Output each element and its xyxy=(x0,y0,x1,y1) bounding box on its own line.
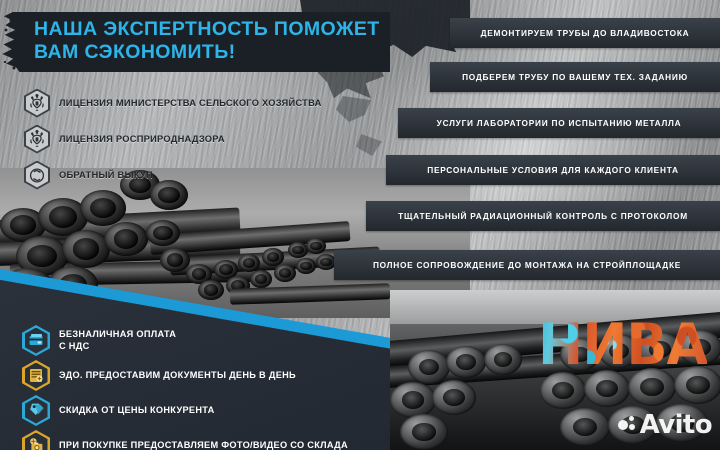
benefit-strip: Услуги лаборатории по испытанию металла xyxy=(398,108,720,138)
price-tag-icon xyxy=(22,395,50,426)
advertisement-banner: Наша экспертность поможет вам сэкономить… xyxy=(0,0,720,450)
benefit-strip: Подберем трубу по вашему тех. заданию xyxy=(430,62,720,92)
eagle-emblem-icon xyxy=(24,125,50,154)
benefit-strip-label: Услуги лаборатории по испытанию металла xyxy=(423,118,696,128)
list-item-label: Лицензия министерства сельского хозяйств… xyxy=(59,98,322,108)
wallet-card-icon xyxy=(22,325,50,356)
benefit-strip-label: Подберем трубу по вашему тех. заданию xyxy=(448,72,702,82)
eagle-emblem-icon xyxy=(24,89,50,118)
benefit-strip-label: Тщательный радиационный контроль с прото… xyxy=(384,211,702,221)
list-item: Обратный выкуп xyxy=(24,158,322,192)
page-title: Наша экспертность поможет вам сэкономить… xyxy=(34,18,384,64)
benefit-strip-label: Демонтируем трубы до Владивостока xyxy=(467,28,704,38)
list-item-label: Безналичная оплата с НДС xyxy=(59,329,176,352)
avito-watermark: Avito xyxy=(618,410,712,440)
headline-line-2: вам сэкономить! xyxy=(34,41,384,64)
company-logo: НИВА xyxy=(538,316,707,373)
list-item: Безналичная оплата с НДС xyxy=(22,325,348,356)
benefit-strip-label: Полное сопровождение до монтажа на строй… xyxy=(359,260,695,270)
license-feature-list: Лицензия министерства сельского хозяйств… xyxy=(24,86,322,194)
benefit-strip: Полное сопровождение до монтажа на строй… xyxy=(334,250,720,280)
benefit-strip-label: Персональные условия для каждого клиента xyxy=(413,165,693,175)
payment-feature-list: Безналичная оплата с НДС ЭДО. Пре xyxy=(22,325,348,450)
avito-wordmark: Avito xyxy=(640,410,712,440)
camera-coins-icon xyxy=(22,430,50,450)
list-item-label: При покупке предоставляем фото/видео со … xyxy=(59,440,348,450)
list-item: При покупке предоставляем фото/видео со … xyxy=(22,430,348,450)
circular-arrows-icon xyxy=(24,161,50,190)
list-item-label: Скидка от цены конкурента xyxy=(59,405,215,417)
list-item-label: Обратный выкуп xyxy=(59,170,153,180)
benefit-strip: Персональные условия для каждого клиента xyxy=(386,155,720,185)
list-item-label: Лицензия росприроднадзора xyxy=(59,134,225,144)
list-item: ЭДО. Предоставим документы день в день xyxy=(22,360,348,391)
avito-logo-icon xyxy=(618,415,638,435)
list-item: Лицензия министерства сельского хозяйств… xyxy=(24,86,322,120)
headline-line-1: Наша экспертность поможет xyxy=(34,18,384,41)
document-stamp-icon xyxy=(22,360,50,391)
benefit-strip: Тщательный радиационный контроль с прото… xyxy=(366,201,720,231)
list-item: Лицензия росприроднадзора xyxy=(24,122,322,156)
list-item-label: ЭДО. Предоставим документы день в день xyxy=(59,370,296,382)
benefit-strip: Демонтируем трубы до Владивостока xyxy=(450,18,720,48)
list-item: Скидка от цены конкурента xyxy=(22,395,348,426)
